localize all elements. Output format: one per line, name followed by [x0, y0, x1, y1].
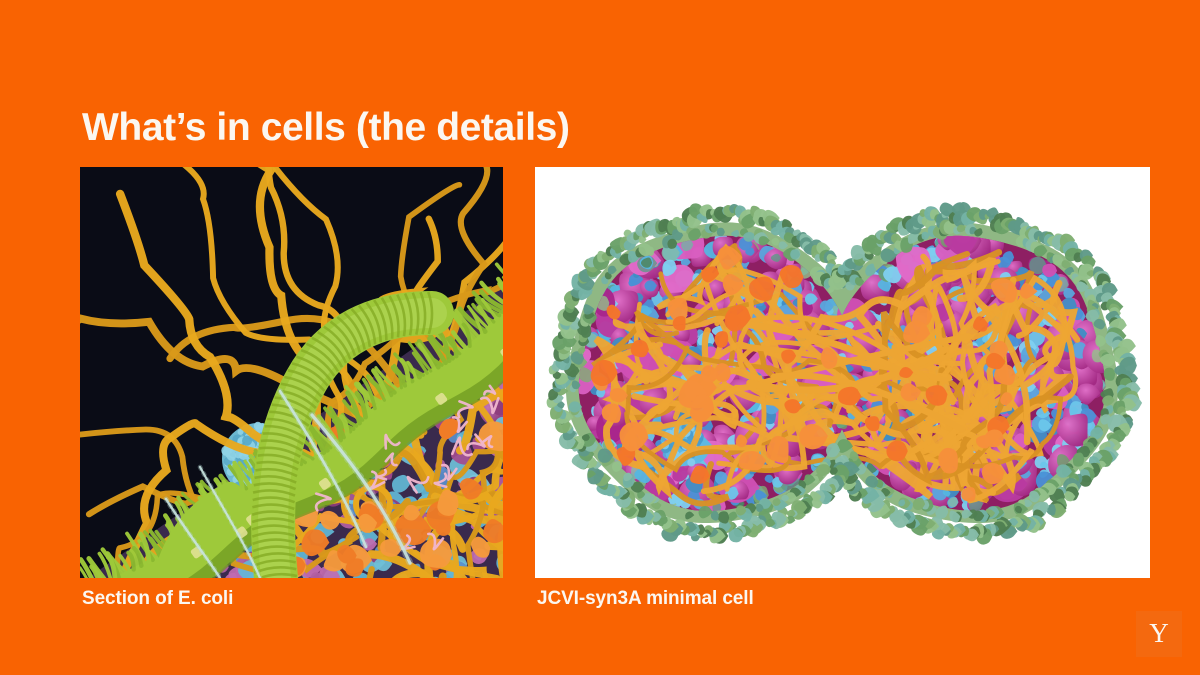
syn3a-illustration [535, 167, 1150, 578]
yc-logo-letter: Y [1149, 620, 1169, 647]
ecoli-illustration [80, 167, 503, 578]
slide-canvas: What’s in cells (the details) [0, 0, 1200, 675]
caption-syn3a: JCVI-syn3A minimal cell [537, 588, 754, 610]
caption-ecoli: Section of E. coli [82, 588, 233, 610]
page-title: What’s in cells (the details) [82, 106, 570, 151]
syn3a-svg [535, 167, 1150, 578]
y-combinator-logo: Y [1136, 611, 1182, 657]
figure-ecoli: Section of E. coli [80, 167, 503, 578]
ecoli-svg [80, 167, 503, 578]
figure-syn3a: JCVI-syn3A minimal cell [535, 167, 1150, 578]
